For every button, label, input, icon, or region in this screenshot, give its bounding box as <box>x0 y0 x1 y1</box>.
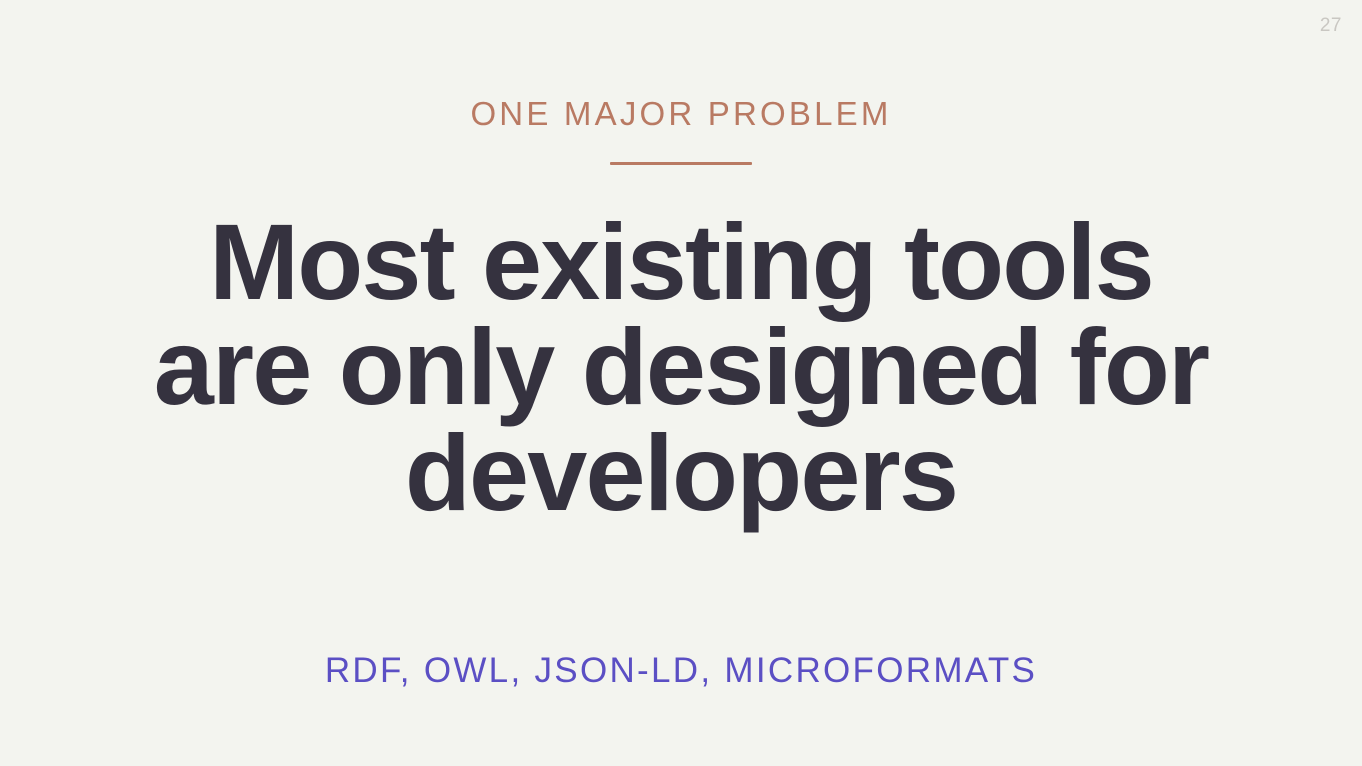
slide-subtitle: RDF, OWL, JSON-LD, MICROFORMATS <box>325 652 1037 691</box>
slide-content: ONE MAJOR PROBLEM Most existing tools ar… <box>0 0 1362 766</box>
headline-line-3: developers <box>154 420 1208 526</box>
page-title: Most existing tools are only designed fo… <box>154 209 1208 526</box>
slide-kicker: ONE MAJOR PROBLEM <box>470 97 891 132</box>
divider-container <box>0 162 1362 165</box>
kicker-divider <box>610 162 752 165</box>
presentation-slide: 27 ONE MAJOR PROBLEM Most existing tools… <box>0 0 1362 766</box>
headline-line-2: are only designed for <box>154 314 1208 420</box>
headline-line-1: Most existing tools <box>154 209 1208 315</box>
